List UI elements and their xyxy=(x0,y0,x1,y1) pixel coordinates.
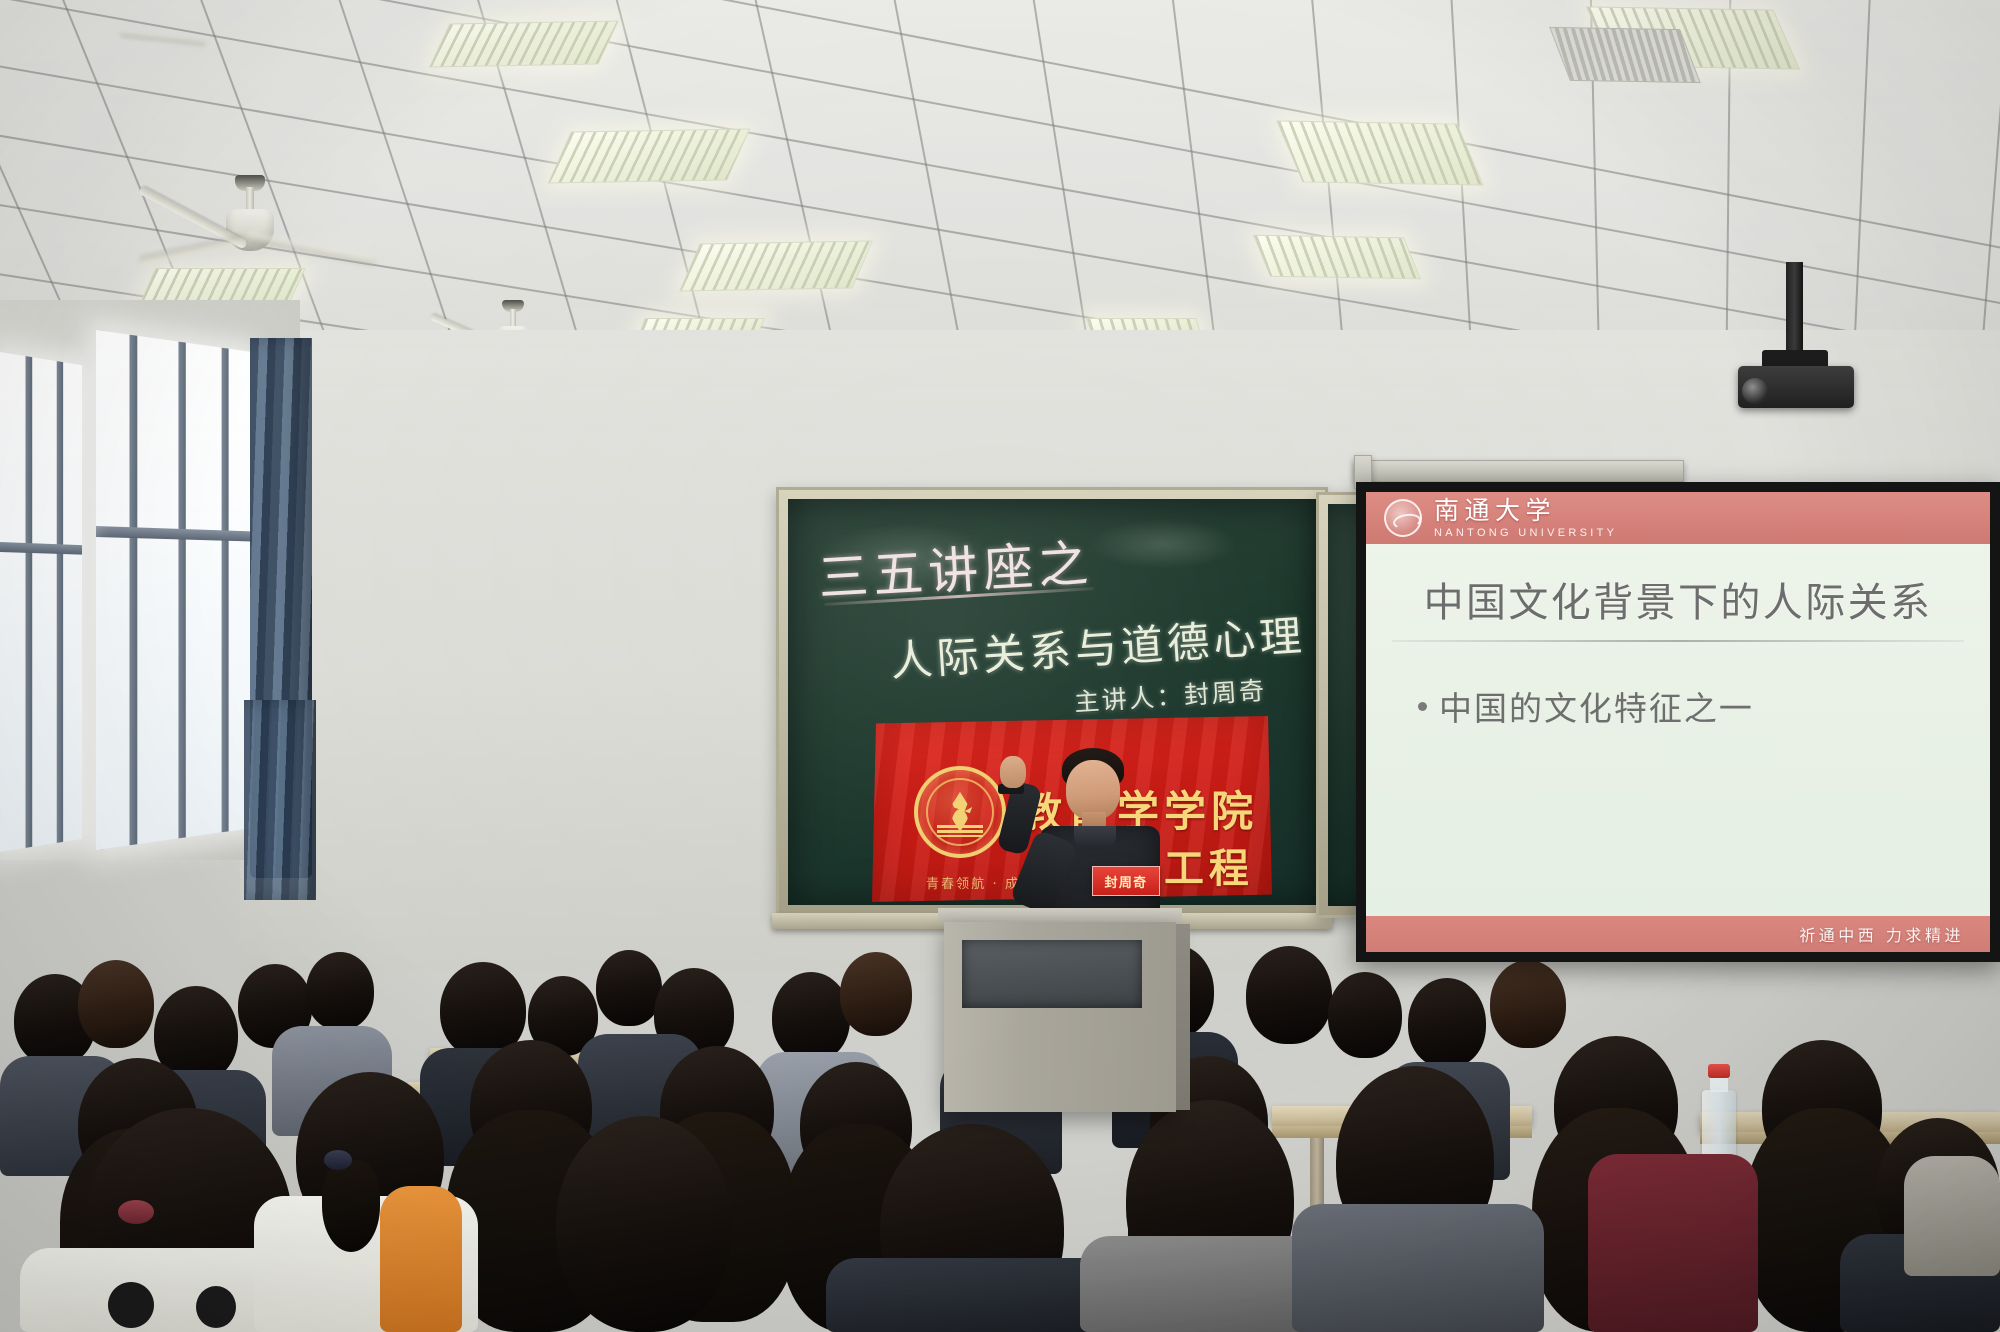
slide-header-band: 南通大学 NANTONG UNIVERSITY xyxy=(1366,492,1990,544)
slide-footer-band: 祈通中西 力求精进 xyxy=(1366,916,1990,952)
student-head-front xyxy=(556,1116,732,1332)
student-hair-tie xyxy=(118,1200,154,1224)
ceiling-light-panel xyxy=(429,21,619,68)
student-head xyxy=(596,950,662,1026)
student-torso-front xyxy=(1292,1204,1544,1332)
student-jacket-red xyxy=(1588,1154,1758,1332)
projector-lens-icon xyxy=(1742,378,1768,404)
ceiling-light-panel xyxy=(548,128,751,183)
slide-bullet-1: 中国的文化特征之一 xyxy=(1418,682,1754,730)
student-ponytail xyxy=(322,1160,380,1252)
student-head xyxy=(78,960,154,1048)
speaker-hand xyxy=(1000,756,1026,788)
student-hair-clip xyxy=(324,1150,352,1170)
speaker-collar xyxy=(1074,826,1116,850)
university-name-en: NANTONG UNIVERSITY xyxy=(1434,528,1617,539)
screen-roller-housing xyxy=(1354,460,1684,482)
ceiling-light-panel xyxy=(1253,235,1421,280)
hoodie-panda-pattern xyxy=(108,1282,154,1328)
window-pane-group xyxy=(0,352,82,852)
window-curtain xyxy=(244,700,316,900)
student-head xyxy=(1328,972,1402,1058)
university-name-cn: 南通大学 xyxy=(1434,498,1617,523)
ceiling-fan xyxy=(150,175,350,305)
university-motto: 祈通中西 力求精进 xyxy=(1799,922,1964,946)
student-head xyxy=(1490,960,1566,1048)
student-head xyxy=(1246,946,1332,1044)
student-torso-front xyxy=(826,1258,1110,1332)
ceiling-air-vent xyxy=(1549,27,1701,83)
projection-screen: 南通大学 NANTONG UNIVERSITY 中国文化背景下的人际关系 中国的… xyxy=(1356,482,2000,962)
blackboard-line-3: 主讲人：封周奇 xyxy=(1073,671,1267,719)
ceiling-fan xyxy=(120,10,240,70)
ceiling-light-panel xyxy=(1276,120,1484,185)
student-head xyxy=(840,952,912,1036)
presentation-slide: 南通大学 NANTONG UNIVERSITY 中国文化背景下的人际关系 中国的… xyxy=(1366,492,1990,952)
student-head xyxy=(1408,978,1486,1068)
student-torso-front xyxy=(1904,1156,2000,1276)
podium-side-panel xyxy=(1176,924,1190,1110)
bottle-cap xyxy=(1708,1064,1730,1078)
slide-bullet-1-text: 中国的文化特征之一 xyxy=(1439,682,1754,730)
ceiling-light-panel xyxy=(679,241,873,292)
speaker-name-text: 封周奇 xyxy=(1105,872,1148,891)
lecture-hall-photo: 三五讲座之 人际关系与道德心理 主讲人：封周奇 教育 学学院 工程 青春领航 ·… xyxy=(0,0,2000,1332)
student-head xyxy=(772,972,850,1062)
podium-control-panel xyxy=(962,940,1142,1008)
slide-title-divider xyxy=(1392,640,1964,642)
university-logo-icon xyxy=(1384,499,1422,537)
slide-title: 中国文化背景下的人际关系 xyxy=(1366,570,1990,628)
bottle-neck xyxy=(1710,1076,1728,1092)
school-emblem-icon xyxy=(914,766,1006,858)
speaker-head xyxy=(1066,760,1120,820)
student-vest xyxy=(380,1186,462,1332)
student-head xyxy=(306,952,374,1030)
bullet-dot-icon xyxy=(1418,702,1427,711)
speaker-nameplate: 封周奇 xyxy=(1092,866,1160,896)
window-pane-group xyxy=(96,330,252,850)
hoodie-panda-pattern xyxy=(196,1286,236,1328)
